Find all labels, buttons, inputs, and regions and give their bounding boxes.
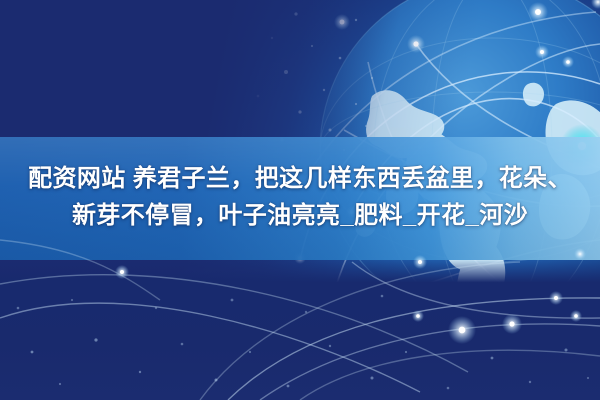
banner-image: 配资网站 养君子兰，把这几样东西丢盆里，花朵、 新芽不停冒，叶子油亮亮_肥料_开… [0, 0, 600, 400]
headline-line-2: 新芽不停冒，叶子油亮亮_肥料_开花_河沙 [0, 197, 600, 234]
headline-line-1: 配资网站 养君子兰，把这几样东西丢盆里，花朵、 [0, 160, 600, 197]
page-title: 配资网站 养君子兰，把这几样东西丢盆里，花朵、 新芽不停冒，叶子油亮亮_肥料_开… [0, 160, 600, 234]
